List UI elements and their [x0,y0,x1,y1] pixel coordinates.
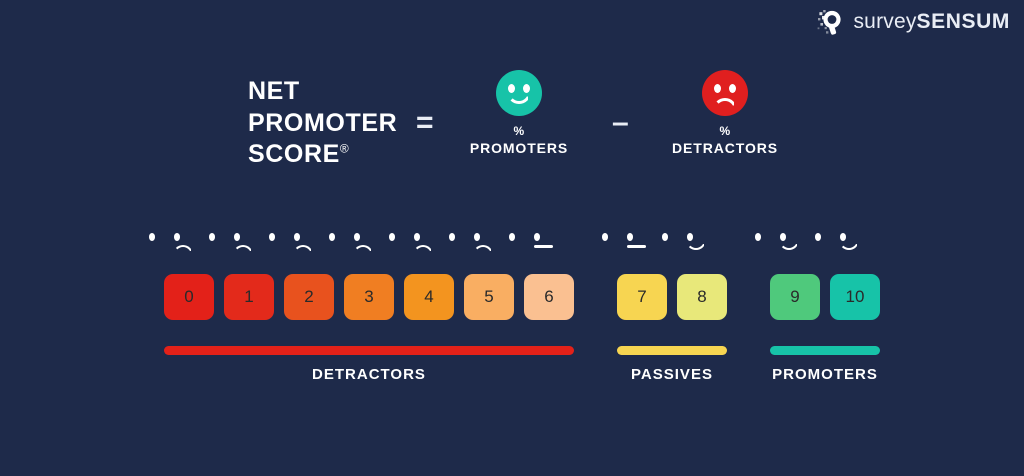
eye-right [149,233,155,241]
page-title: NET PROMOTER SCORE® [248,76,397,171]
mouth-smile [779,240,799,250]
score-tile-3[interactable]: 3 [344,274,394,320]
score-tile-5[interactable]: 5 [464,274,514,320]
detractors-term-label: DETRACTORS [640,140,810,156]
eye-right [389,233,395,241]
promoters-term: % PROMOTERS [434,70,604,156]
trademark-symbol: ® [340,142,349,156]
minus-sign: – [612,106,629,140]
detractors-term: % DETRACTORS [640,70,810,156]
title-line-1: NET [248,76,397,108]
score-tile-1[interactable]: 1 [224,274,274,320]
title-line-3: SCORE® [248,139,397,171]
mouth-smile [686,240,706,250]
eye-right [815,233,821,241]
category-label-promoters: PROMOTERS [770,366,880,383]
scale-tiles-row: 012345678910 [0,274,1024,326]
frowning-face-icon [702,70,748,116]
category-bar-passives [617,346,727,355]
eye-left [474,233,480,241]
magnifier-pixel-icon [817,8,845,36]
equals-sign: = [416,106,434,140]
mouth-frown [713,98,737,110]
nps-formula: NET PROMOTER SCORE® = % PROMOTERS – % DE… [0,62,1024,177]
eye-right [602,233,608,241]
detractors-percent-symbol: % [640,124,810,138]
promoters-percent-symbol: % [434,124,604,138]
eye-left [714,84,721,93]
eye-right [209,233,215,241]
title-line-3-text: SCORE [248,140,340,168]
score-tile-9[interactable]: 9 [770,274,820,320]
category-bars: DETRACTORSPASSIVESPROMOTERS [0,346,1024,406]
mouth-frown [293,245,313,255]
title-line-2: PROMOTER [248,108,397,140]
mouth-smile [507,92,531,104]
eye-left [294,233,300,241]
score-tile-0[interactable]: 0 [164,274,214,320]
brand-name-bold: SENSUM [917,10,1010,33]
brand-name-light: survey [853,10,916,33]
eye-left [414,233,420,241]
mouth-frown [173,245,193,255]
mouth-frown [473,245,493,255]
score-tile-7[interactable]: 7 [617,274,667,320]
category-label-passives: PASSIVES [617,366,727,383]
score-tile-2[interactable]: 2 [284,274,334,320]
eye-right [509,233,515,241]
eye-left [627,233,633,241]
eye-left [174,233,180,241]
category-bar-promoters [770,346,880,355]
eye-left [534,233,540,241]
score-tile-4[interactable]: 4 [404,274,454,320]
category-label-detractors: DETRACTORS [164,366,574,383]
score-tile-10[interactable]: 10 [830,274,880,320]
eye-right [755,233,761,241]
brand-wordmark: surveySENSUM [853,10,1010,34]
mouth-frown [413,245,433,255]
eye-right [662,233,668,241]
score-tile-8[interactable]: 8 [677,274,727,320]
mouth-neutral [627,245,646,248]
brand-logo: surveySENSUM [817,8,1010,36]
eye-right [729,84,736,93]
promoters-term-label: PROMOTERS [434,140,604,156]
eye-left [234,233,240,241]
mouth-frown [353,245,373,255]
eye-right [449,233,455,241]
mouth-frown [233,245,253,255]
eye-right [269,233,275,241]
eye-right [329,233,335,241]
smiling-face-icon [496,70,542,116]
scale-faces-row [0,222,1024,274]
nps-rating-scale: 012345678910 [0,222,1024,326]
category-bar-detractors [164,346,574,355]
mouth-neutral [534,245,553,248]
score-tile-6[interactable]: 6 [524,274,574,320]
mouth-smile [839,240,859,250]
eye-left [354,233,360,241]
